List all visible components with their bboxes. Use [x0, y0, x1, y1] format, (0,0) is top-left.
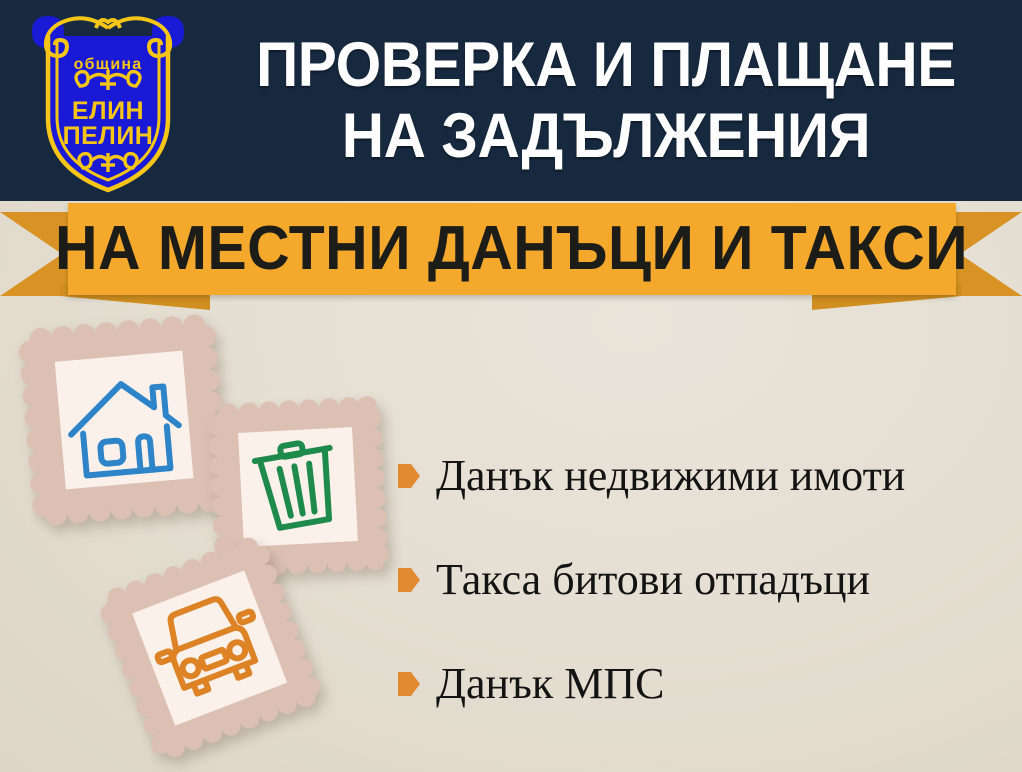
list-item-label: Данък МПС	[436, 662, 664, 706]
tax-types-list: Данък недвижими имоти Такса битови отпад…	[398, 424, 1013, 736]
crest-name-line-2: ПЕЛИН	[63, 122, 154, 150]
ribbon-band: НА МЕСТНИ ДАНЪЦИ И ТАКСИ	[68, 203, 956, 295]
header-bar: община ЕЛИН ПЕЛИН	[0, 0, 1022, 201]
poster-title-line-2: НА ЗАДЪЛЖЕНИЯ	[342, 101, 870, 172]
crest-name-line-1: ЕЛИН	[72, 97, 144, 125]
stamp-house	[14, 312, 234, 527]
list-item[interactable]: Данък недвижими имоти	[398, 424, 1013, 528]
poster-title: ПРОВЕРКА И ПЛАЩАНЕ НА ЗАДЪЛЖЕНИЯ	[225, 8, 988, 194]
arrow-bullet-icon	[398, 464, 420, 488]
poster-title-line-1: ПРОВЕРКА И ПЛАЩАНЕ	[256, 30, 956, 101]
list-item-label: Данък недвижими имоти	[436, 454, 905, 498]
arrow-bullet-icon	[398, 672, 420, 696]
list-item-label: Такса битови отпадъци	[436, 558, 870, 602]
poster-canvas: община ЕЛИН ПЕЛИН	[0, 0, 1022, 772]
ribbon-banner: НА МЕСТНИ ДАНЪЦИ И ТАКСИ	[0, 198, 1022, 310]
list-item[interactable]: Такса битови отпадъци	[398, 528, 1013, 632]
municipality-crest-logo: община ЕЛИН ПЕЛИН	[22, 6, 194, 194]
ribbon-label: НА МЕСТНИ ДАНЪЦИ И ТАКСИ	[56, 218, 969, 280]
list-item[interactable]: Данък МПС	[398, 632, 1013, 736]
arrow-bullet-icon	[398, 568, 420, 592]
stamp-car	[90, 530, 330, 768]
